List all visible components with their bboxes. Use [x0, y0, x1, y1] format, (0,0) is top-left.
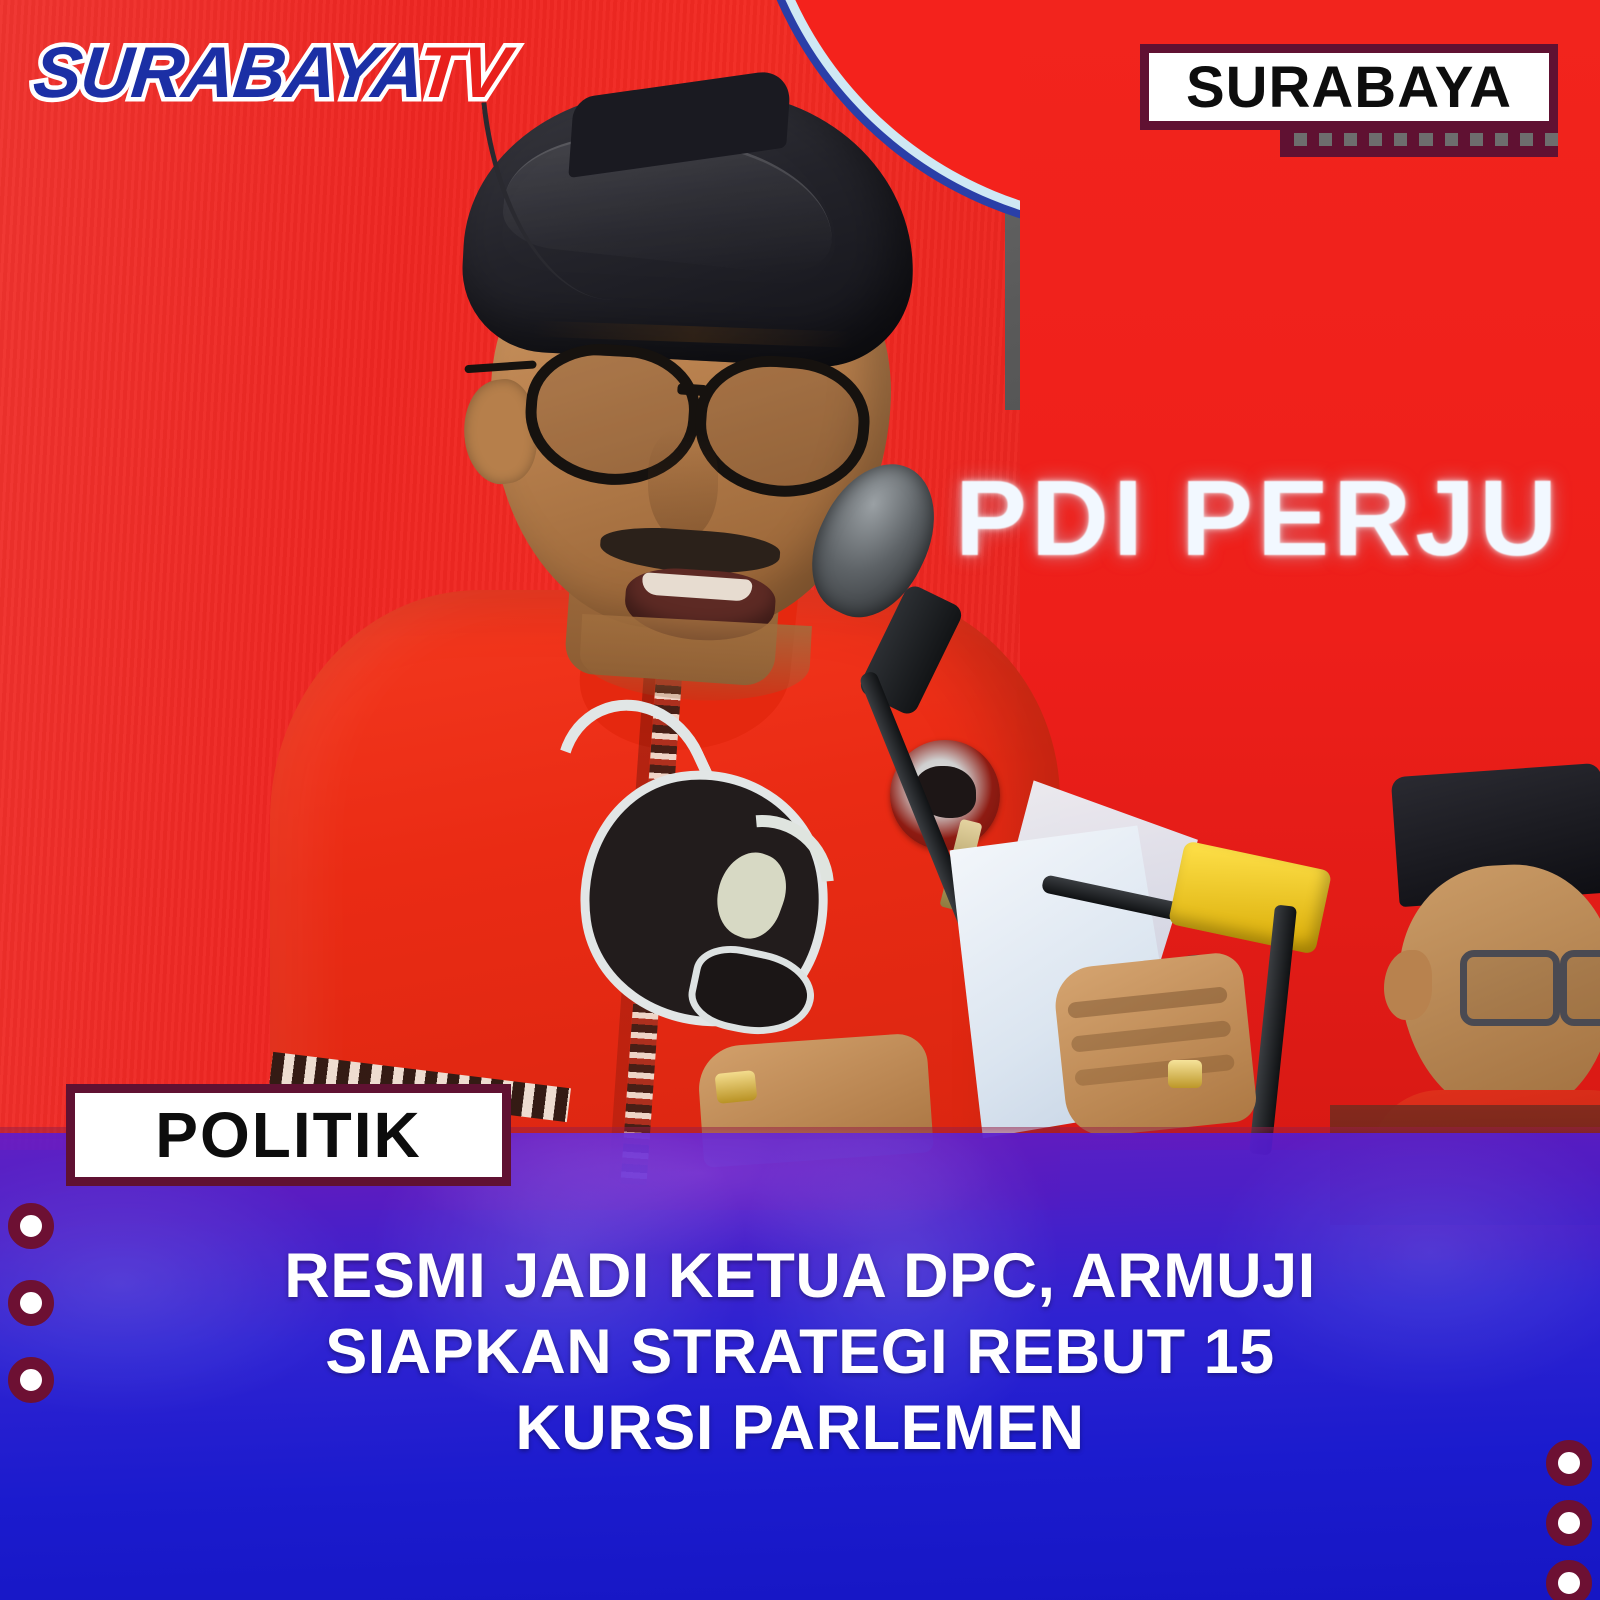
decor-dot-left-3	[8, 1357, 54, 1403]
category-badge-label: POLITIK	[155, 1098, 421, 1172]
banteng-bull-logo-icon	[540, 700, 840, 1030]
decor-dot-right-3	[1546, 1560, 1592, 1600]
speaker-nose	[648, 430, 718, 540]
channel-logo-suffix: TV	[414, 33, 512, 113]
secondary-person	[1340, 770, 1600, 1150]
headline-text: RESMI JADI KETUA DPC, ARMUJISIAPKAN STRA…	[110, 1238, 1490, 1467]
finger-ring-right	[1168, 1060, 1202, 1088]
category-badge: POLITIK	[66, 1084, 511, 1186]
location-badge: SURABAYA	[1140, 44, 1558, 130]
secondary-person-glasses	[1460, 950, 1600, 1020]
decor-dot-right-2	[1546, 1500, 1592, 1546]
headline-line-2: SIAPKAN STRATEGI REBUT 15	[110, 1314, 1490, 1390]
headline-line-1: RESMI JADI KETUA DPC, ARMUJI	[110, 1238, 1490, 1314]
secondary-person-ear	[1384, 950, 1432, 1020]
speaker-right-hand	[1052, 951, 1259, 1140]
decor-dot-right-1	[1546, 1440, 1592, 1486]
channel-logo-main: SURABAYA	[30, 33, 422, 113]
finger-ring-left	[715, 1070, 758, 1104]
channel-logo[interactable]: SURABAYATV	[30, 32, 513, 114]
decor-dot-left-1	[8, 1203, 54, 1249]
location-badge-dash-strip	[1280, 122, 1558, 157]
decor-dot-left-2	[8, 1280, 54, 1326]
location-badge-label: SURABAYA	[1186, 54, 1512, 121]
headline-line-3: KURSI PARLEMEN	[110, 1390, 1490, 1466]
news-card: PDI PERJU	[0, 0, 1600, 1600]
